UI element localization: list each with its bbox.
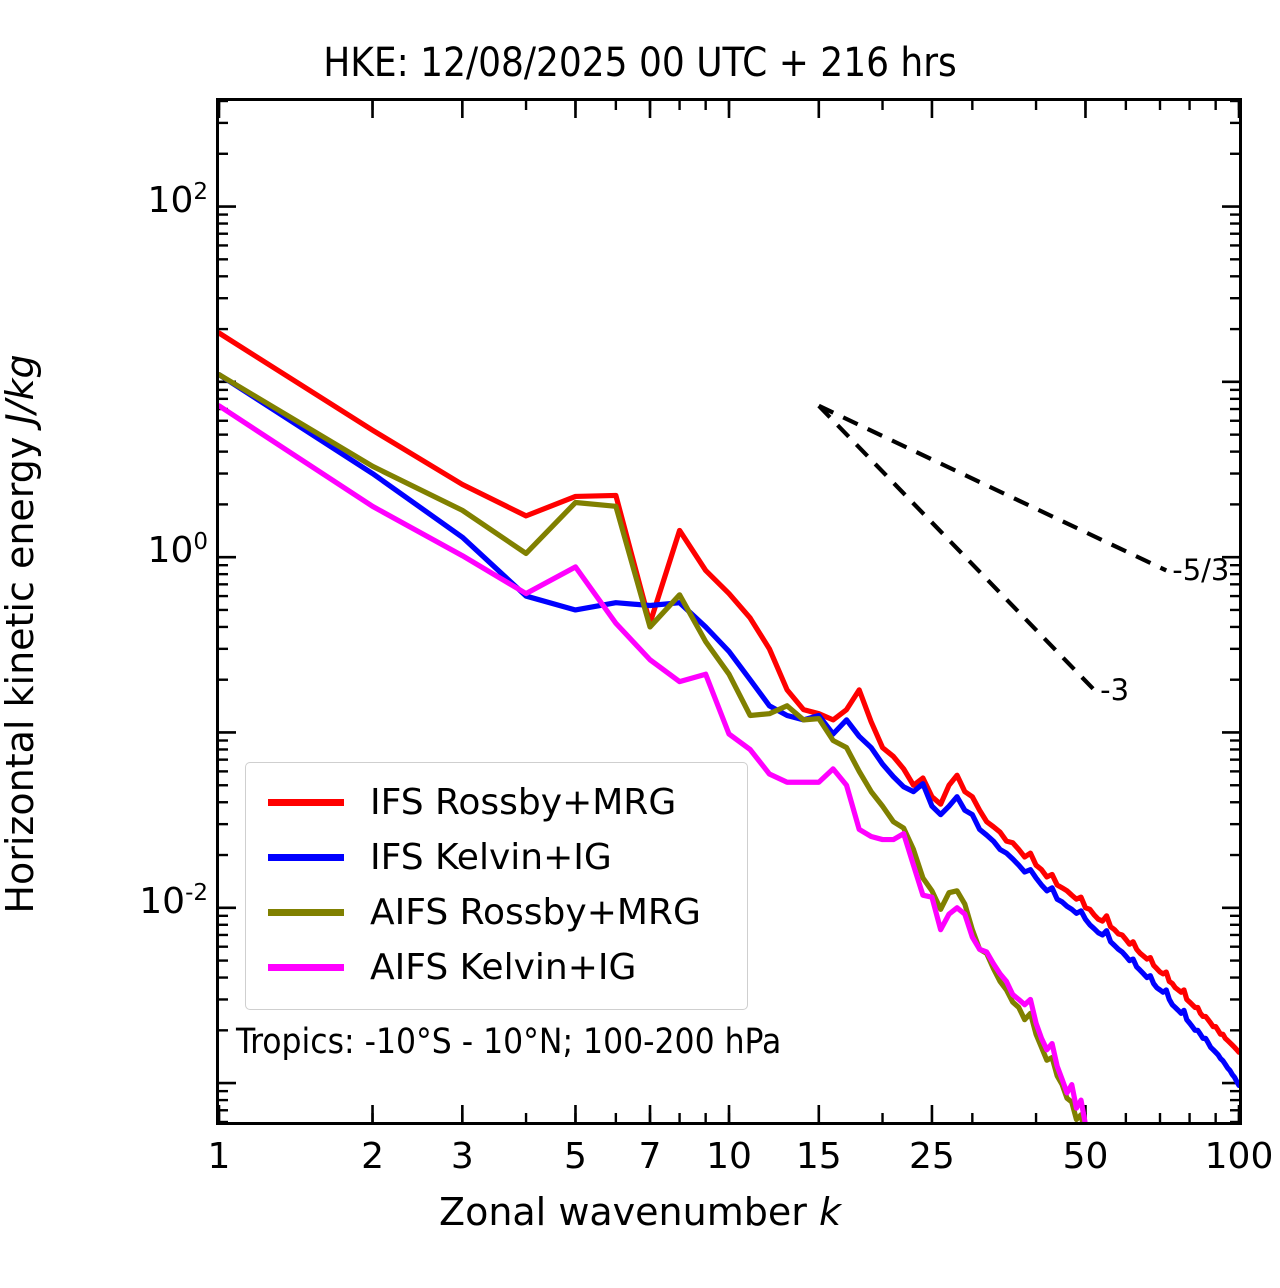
legend-item-3[interactable]: AIFS Kelvin+IG: [246, 940, 747, 995]
slope-reference-line-1: [819, 406, 1094, 690]
slope-label-1: -3: [1100, 673, 1129, 707]
ytick-exponent-1: 0: [193, 529, 208, 555]
legend-swatch-0: [268, 799, 344, 806]
xtick-label-50: 50: [1063, 1136, 1109, 1177]
ytick-mantissa-0: 10: [148, 180, 194, 221]
xtick-label-10: 10: [706, 1136, 752, 1177]
legend-swatch-1: [268, 854, 344, 861]
xtick-label-100: 100: [1205, 1136, 1274, 1177]
xtick-label-3: 3: [451, 1136, 474, 1177]
ytick-exponent-0: 2: [193, 179, 208, 205]
slope-reference-line-0: [819, 406, 1166, 571]
xtick-label-25: 25: [909, 1136, 955, 1177]
legend-swatch-2: [268, 909, 344, 916]
chart-page: HKE: 12/08/2025 00 UTC + 216 hrs Horizon…: [0, 0, 1280, 1288]
xtick-label-5: 5: [564, 1136, 587, 1177]
legend-label-3: AIFS Kelvin+IG: [370, 950, 636, 986]
x-axis-label: Zonal wavenumber k: [0, 1190, 1280, 1234]
xtick-label-7: 7: [639, 1136, 662, 1177]
legend-swatch-3: [268, 964, 344, 971]
x-axis-label-main: Zonal wavenumber: [439, 1190, 819, 1234]
xtick-label-1: 1: [208, 1136, 231, 1177]
legend-item-0[interactable]: IFS Rossby+MRG: [246, 775, 747, 830]
legend: IFS Rossby+MRGIFS Kelvin+IGAIFS Rossby+M…: [245, 762, 748, 1010]
ytick-mantissa-1: 10: [148, 530, 194, 571]
xtick-label-2: 2: [361, 1136, 384, 1177]
y-axis-label-unit: J/kg: [0, 354, 42, 424]
ytick-exponent-2: -2: [185, 880, 208, 906]
legend-label-2: AIFS Rossby+MRG: [370, 895, 701, 931]
x-axis-label-var: k: [819, 1190, 841, 1234]
chart-title: HKE: 12/08/2025 00 UTC + 216 hrs: [0, 40, 1280, 86]
slope-label-0: -5/3: [1172, 553, 1229, 587]
region-annotation: Tropics: -10°S - 10°N; 100-200 hPa: [236, 1022, 781, 1062]
legend-label-0: IFS Rossby+MRG: [370, 785, 676, 821]
y-axis-label-main: Horizontal kinetic energy: [0, 425, 42, 914]
legend-item-2[interactable]: AIFS Rossby+MRG: [246, 885, 747, 940]
ytick-mantissa-2: 10: [139, 881, 185, 922]
xtick-label-15: 15: [796, 1136, 842, 1177]
legend-label-1: IFS Kelvin+IG: [370, 840, 612, 876]
legend-item-1[interactable]: IFS Kelvin+IG: [246, 830, 747, 885]
ytick-label-0: 102: [148, 181, 208, 219]
ytick-label-2: 10-2: [139, 882, 208, 920]
y-axis-label: Horizontal kinetic energy J/kg: [0, 84, 42, 1184]
ytick-label-1: 100: [148, 531, 208, 569]
